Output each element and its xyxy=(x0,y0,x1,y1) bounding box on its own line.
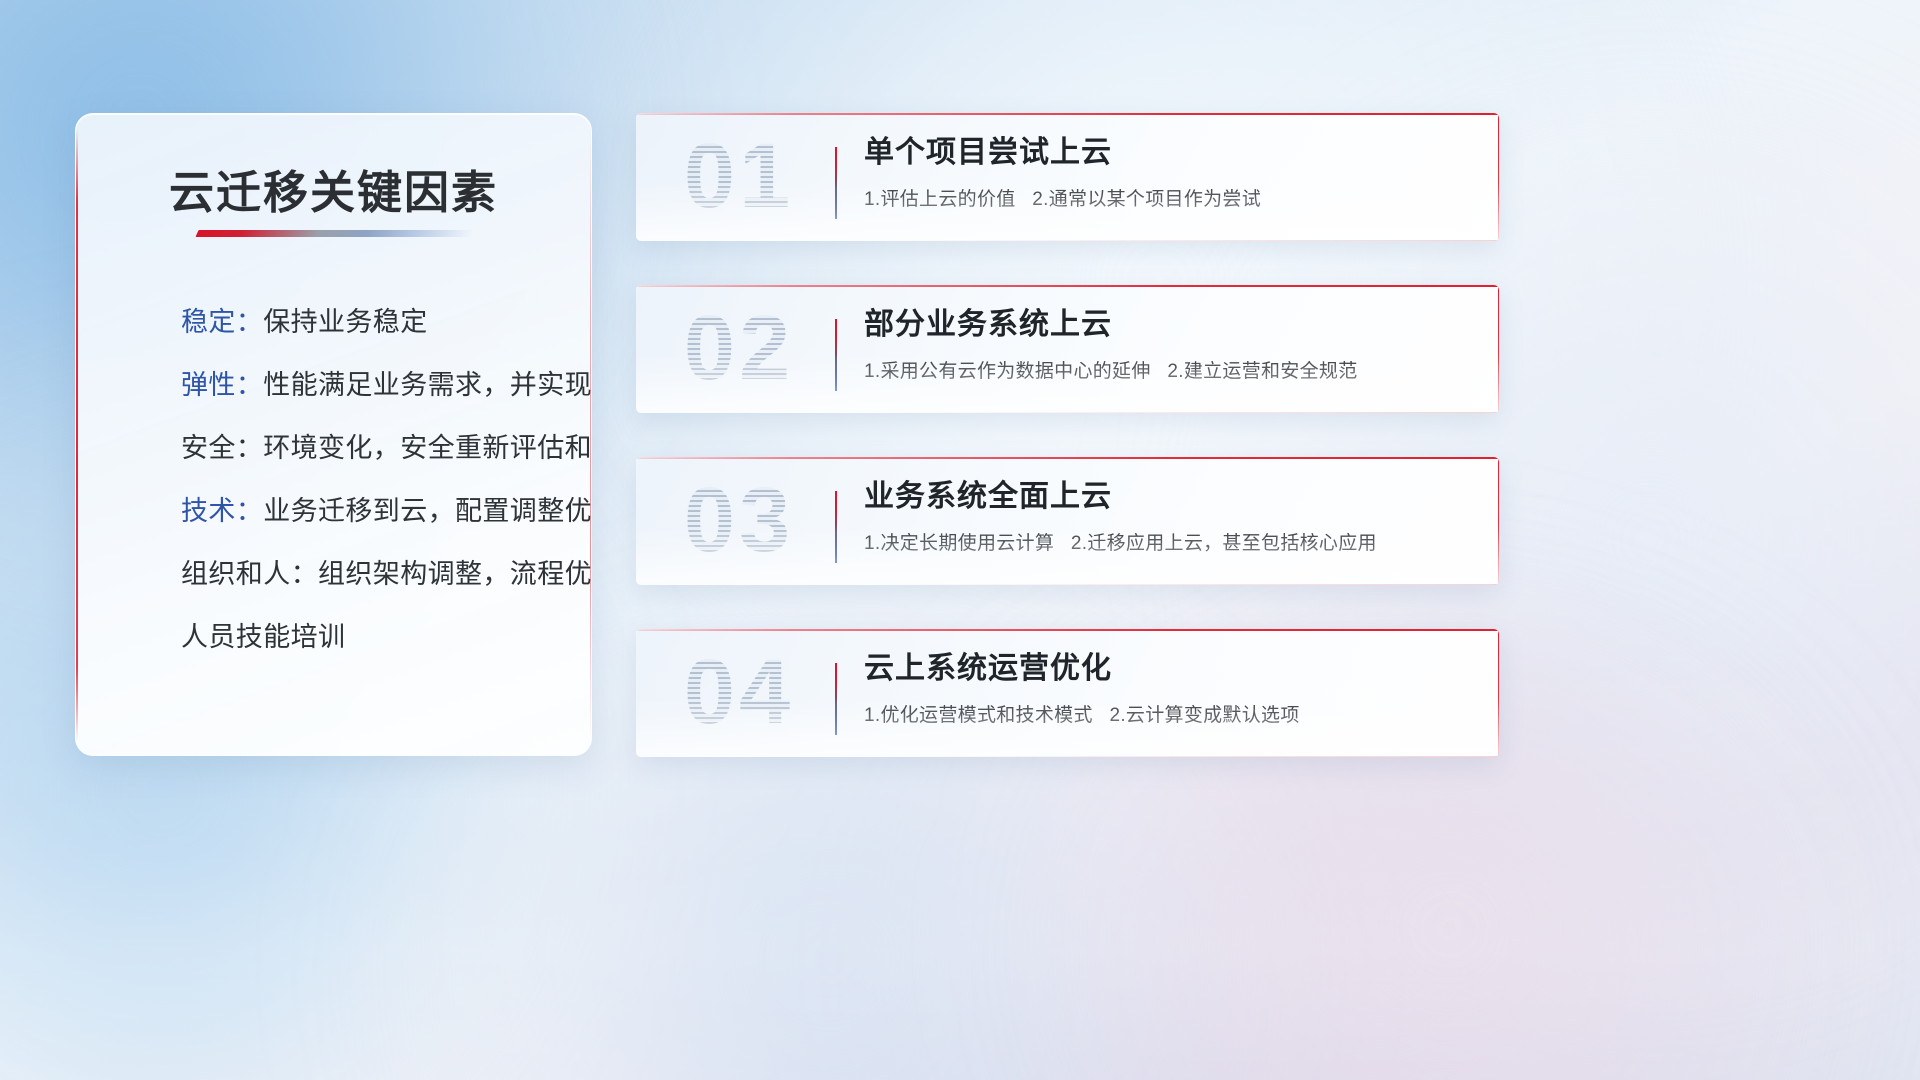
list-item: 弹性：性能满足业务需求，并实现弹性 xyxy=(181,372,551,399)
card-number: 04 xyxy=(664,642,814,742)
list-item-text: 性能满足业务需求，并实现弹性 xyxy=(263,370,592,400)
card-number: 02 xyxy=(664,298,814,398)
list-item: 技术：业务迁移到云，配置调整优化 xyxy=(181,498,551,525)
card-right-accent-line xyxy=(1498,285,1500,413)
card-description: 1.评估上云的价值 2.通常以某个项目作为尝试 xyxy=(864,184,1475,211)
card-description: 1.采用公有云作为数据中心的延伸 2.建立运营和安全规范 xyxy=(864,356,1475,383)
card-divider-line xyxy=(835,491,837,563)
card-divider-line xyxy=(835,319,837,391)
stage-card[interactable]: 03 03 业务系统全面上云 1.决定长期使用云计算 2.迁移应用上云，甚至包括… xyxy=(636,457,1499,585)
card-right-accent-line xyxy=(1498,629,1500,757)
card-top-accent-line xyxy=(636,457,1499,459)
card-bottom-accent-line xyxy=(878,756,1499,757)
card-top-accent-line xyxy=(636,285,1499,287)
list-item-text: 组织架构调整，流程优化， xyxy=(318,559,592,589)
list-item: 稳定：保持业务稳定 xyxy=(181,309,551,336)
title-underline-gradient xyxy=(195,230,473,237)
card-description: 1.决定长期使用云计算 2.迁移应用上云，甚至包括核心应用 xyxy=(864,528,1475,555)
card-top-accent-line xyxy=(636,629,1499,631)
card-top-accent-line xyxy=(636,113,1499,115)
list-item-label: 稳定： xyxy=(181,307,263,337)
list-item-text: 人员技能培训 xyxy=(181,622,345,652)
list-item-label: 弹性： xyxy=(181,370,263,400)
card-right-accent-line xyxy=(1498,113,1500,241)
key-factors-list: 稳定：保持业务稳定 弹性：性能满足业务需求，并实现弹性 安全：环境变化，安全重新… xyxy=(181,309,551,651)
card-bottom-accent-line xyxy=(878,412,1499,413)
card-body: 云上系统运营优化 1.优化运营模式和技术模式 2.云计算变成默认选项 xyxy=(864,651,1475,727)
list-item-text: 业务迁移到云，配置调整优化 xyxy=(263,496,592,526)
card-body: 单个项目尝试上云 1.评估上云的价值 2.通常以某个项目作为尝试 xyxy=(864,135,1475,211)
card-number: 01 xyxy=(664,126,814,226)
card-divider-line xyxy=(835,663,837,735)
list-item-text: 保持业务稳定 xyxy=(263,307,427,337)
stage-card[interactable]: 02 02 部分业务系统上云 1.采用公有云作为数据中心的延伸 2.建立运营和安… xyxy=(636,285,1499,413)
key-factors-panel: 云迁移关键因素 稳定：保持业务稳定 弹性：性能满足业务需求，并实现弹性 安全：环… xyxy=(75,113,592,756)
card-right-accent-line xyxy=(1498,457,1500,585)
stage-card[interactable]: 04 04 云上系统运营优化 1.优化运营模式和技术模式 2.云计算变成默认选项 xyxy=(636,629,1499,757)
card-title: 云上系统运营优化 xyxy=(864,651,1475,688)
card-bottom-accent-line xyxy=(878,240,1499,241)
slide-stage: 云迁移关键因素 稳定：保持业务稳定 弹性：性能满足业务需求，并实现弹性 安全：环… xyxy=(0,0,1920,1080)
card-title: 业务系统全面上云 xyxy=(864,479,1475,516)
card-bottom-accent-line xyxy=(878,584,1499,585)
list-item: 安全：环境变化，安全重新评估和评审 xyxy=(181,435,551,462)
card-description: 1.优化运营模式和技术模式 2.云计算变成默认选项 xyxy=(864,700,1475,727)
list-item-label: 技术： xyxy=(181,496,263,526)
page-title: 云迁移关键因素 xyxy=(76,156,591,221)
card-number: 03 xyxy=(664,470,814,570)
card-title: 单个项目尝试上云 xyxy=(864,135,1475,172)
list-item-label: 组织和人： xyxy=(181,559,318,589)
list-item-label: 安全： xyxy=(181,433,263,463)
card-body: 部分业务系统上云 1.采用公有云作为数据中心的延伸 2.建立运营和安全规范 xyxy=(864,307,1475,383)
card-title: 部分业务系统上云 xyxy=(864,307,1475,344)
card-divider-line xyxy=(835,147,837,219)
migration-stage-cards: 01 01 单个项目尝试上云 1.评估上云的价值 2.通常以某个项目作为尝试 0… xyxy=(636,113,1499,757)
list-item: 组织和人：组织架构调整，流程优化， xyxy=(181,561,551,588)
list-item: 人员技能培训 xyxy=(181,624,551,651)
list-item-text: 环境变化，安全重新评估和评审 xyxy=(263,433,592,463)
stage-card[interactable]: 01 01 单个项目尝试上云 1.评估上云的价值 2.通常以某个项目作为尝试 xyxy=(636,113,1499,241)
card-body: 业务系统全面上云 1.决定长期使用云计算 2.迁移应用上云，甚至包括核心应用 xyxy=(864,479,1475,555)
